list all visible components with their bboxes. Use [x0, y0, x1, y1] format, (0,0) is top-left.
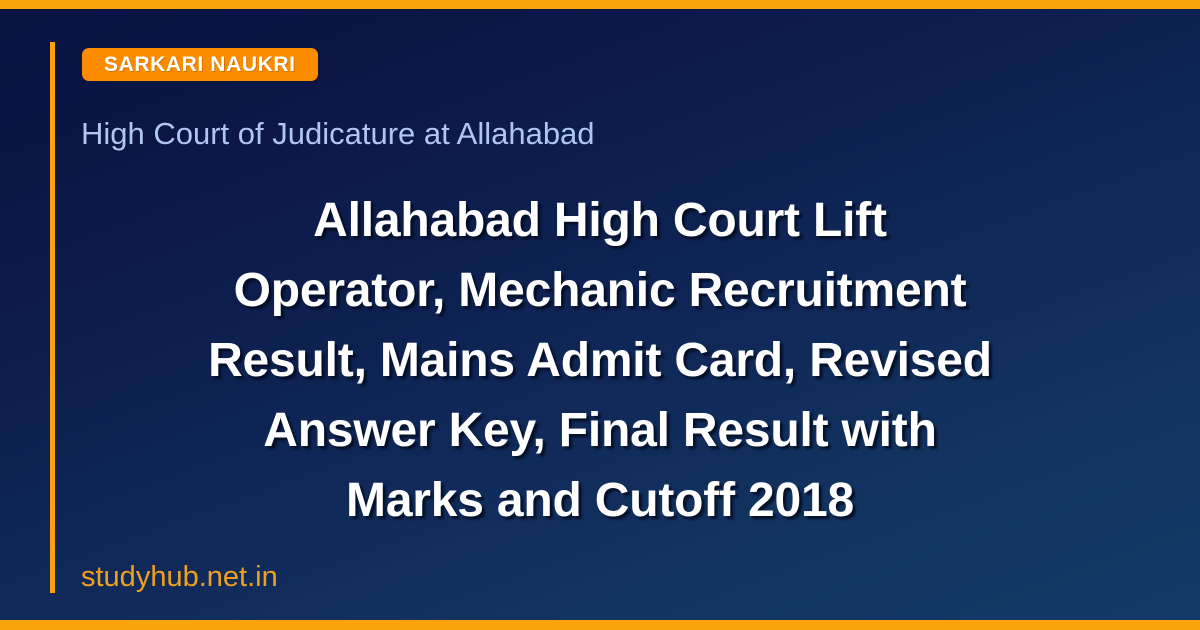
headline-line: Allahabad High Court Lift [70, 186, 1130, 256]
headline-line: Operator, Mechanic Recruitment [70, 256, 1130, 326]
site-url: studyhub.net.in [81, 561, 278, 594]
headline-line: Marks and Cutoff 2018 [70, 466, 1130, 536]
organisation-name: High Court of Judicature at Allahabad [81, 116, 595, 153]
headline-line: Answer Key, Final Result with [70, 396, 1130, 466]
headline-line: Result, Mains Admit Card, Revised [70, 326, 1130, 396]
top-accent-bar [0, 0, 1200, 9]
category-badge: SARKARI NAUKRI [82, 48, 318, 81]
headline: Allahabad High Court Lift Operator, Mech… [70, 186, 1130, 536]
bottom-accent-bar [0, 620, 1200, 630]
category-badge-label: SARKARI NAUKRI [104, 54, 296, 75]
vertical-accent-rule [50, 42, 55, 593]
poster-card: SARKARI NAUKRI High Court of Judicature … [0, 0, 1200, 630]
